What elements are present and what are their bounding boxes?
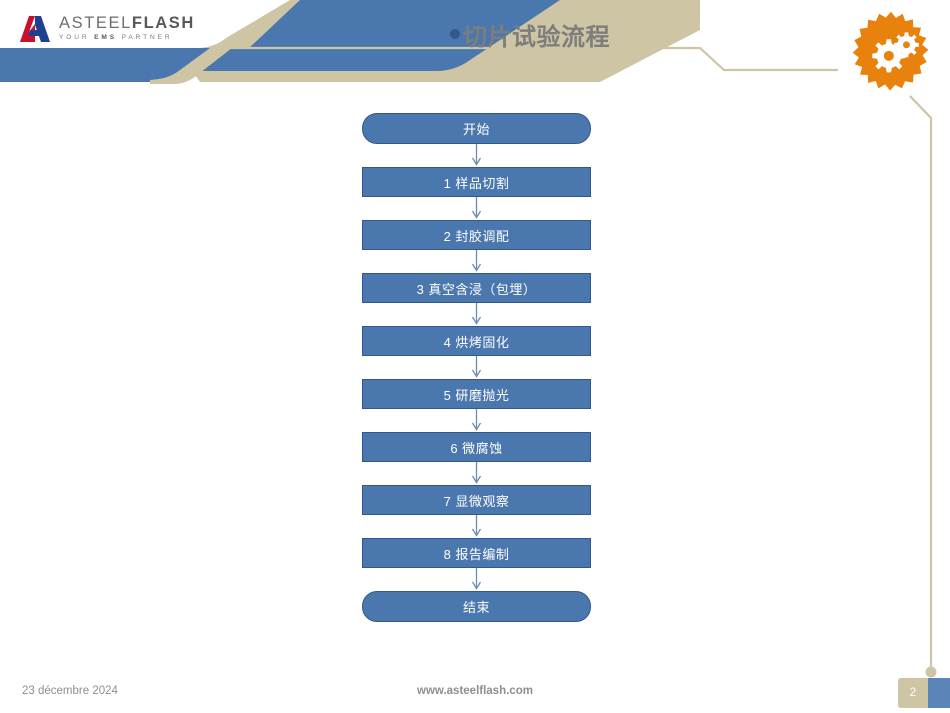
flow-node-step-5[interactable]: 5 研磨抛光 [362, 379, 591, 409]
flow-arrow [362, 356, 591, 379]
flow-node-label: 1 样品切割 [444, 173, 510, 192]
logo-wordmark-light: ASTEEL [59, 14, 132, 32]
page-number: 2 [898, 678, 928, 708]
flow-node-label: 7 显微观察 [444, 491, 510, 510]
right-rail-line [910, 96, 931, 668]
flow-arrow [362, 462, 591, 485]
flow-node-label: 结束 [463, 597, 490, 616]
logo-wordmark: ASTEELFLASH [59, 15, 195, 32]
logo-tagline: YOUR EMS PARTNER [59, 33, 195, 43]
flow-node-label: 2 封胶调配 [444, 226, 510, 245]
flow-node-step-4[interactable]: 4 烘烤固化 [362, 326, 591, 356]
page-number-badge: 2 [898, 678, 950, 708]
flow-node-step-2[interactable]: 2 封胶调配 [362, 220, 591, 250]
flow-node-step-3[interactable]: 3 真空含浸（包埋） [362, 273, 591, 303]
logo-text-block: ASTEELFLASH YOUR EMS PARTNER [59, 15, 195, 43]
logo-wordmark-bold: FLASH [132, 14, 195, 32]
slide-header: ASTEELFLASH YOUR EMS PARTNER 切片试验流程 [0, 0, 950, 100]
flow-node-label: 6 微腐蚀 [450, 438, 502, 457]
flow-node-step-1[interactable]: 1 样品切割 [362, 167, 591, 197]
right-rail-dot [926, 667, 937, 678]
flow-arrow [362, 409, 591, 432]
header-connector-dot [450, 29, 460, 39]
right-rail-decoration [890, 88, 950, 688]
flow-node-end[interactable]: 结束 [362, 591, 591, 622]
flow-arrow [362, 197, 591, 220]
flow-arrow [362, 144, 591, 167]
flow-arrow [362, 568, 591, 591]
slide-canvas: ASTEELFLASH YOUR EMS PARTNER 切片试验流程 开始 [0, 0, 950, 713]
flow-node-label: 5 研磨抛光 [444, 385, 510, 404]
flow-node-start[interactable]: 开始 [362, 113, 591, 144]
flow-node-label: 4 烘烤固化 [444, 332, 510, 351]
flow-node-label: 3 真空含浸（包埋） [417, 279, 537, 298]
flow-node-step-7[interactable]: 7 显微观察 [362, 485, 591, 515]
page-title: 切片试验流程 [463, 17, 610, 52]
gears-badge-icon [848, 10, 934, 96]
page-badge-accent [928, 678, 950, 708]
flow-arrow [362, 250, 591, 273]
slide-footer: 23 décembre 2024 www.asteelflash.com [0, 672, 950, 713]
flow-node-label: 8 报告编制 [444, 544, 510, 563]
flow-node-label: 开始 [463, 119, 490, 138]
flow-arrow [362, 303, 591, 326]
asteelflash-logo-mark [18, 14, 52, 44]
flow-node-step-6[interactable]: 6 微腐蚀 [362, 432, 591, 462]
footer-url[interactable]: www.asteelflash.com [0, 685, 950, 697]
flow-arrow [362, 515, 591, 538]
flow-node-step-8[interactable]: 8 报告编制 [362, 538, 591, 568]
asteelflash-logo: ASTEELFLASH YOUR EMS PARTNER [18, 12, 208, 46]
process-flowchart: 开始 1 样品切割 2 封胶调配 3 真空含浸（包埋） [362, 113, 591, 622]
